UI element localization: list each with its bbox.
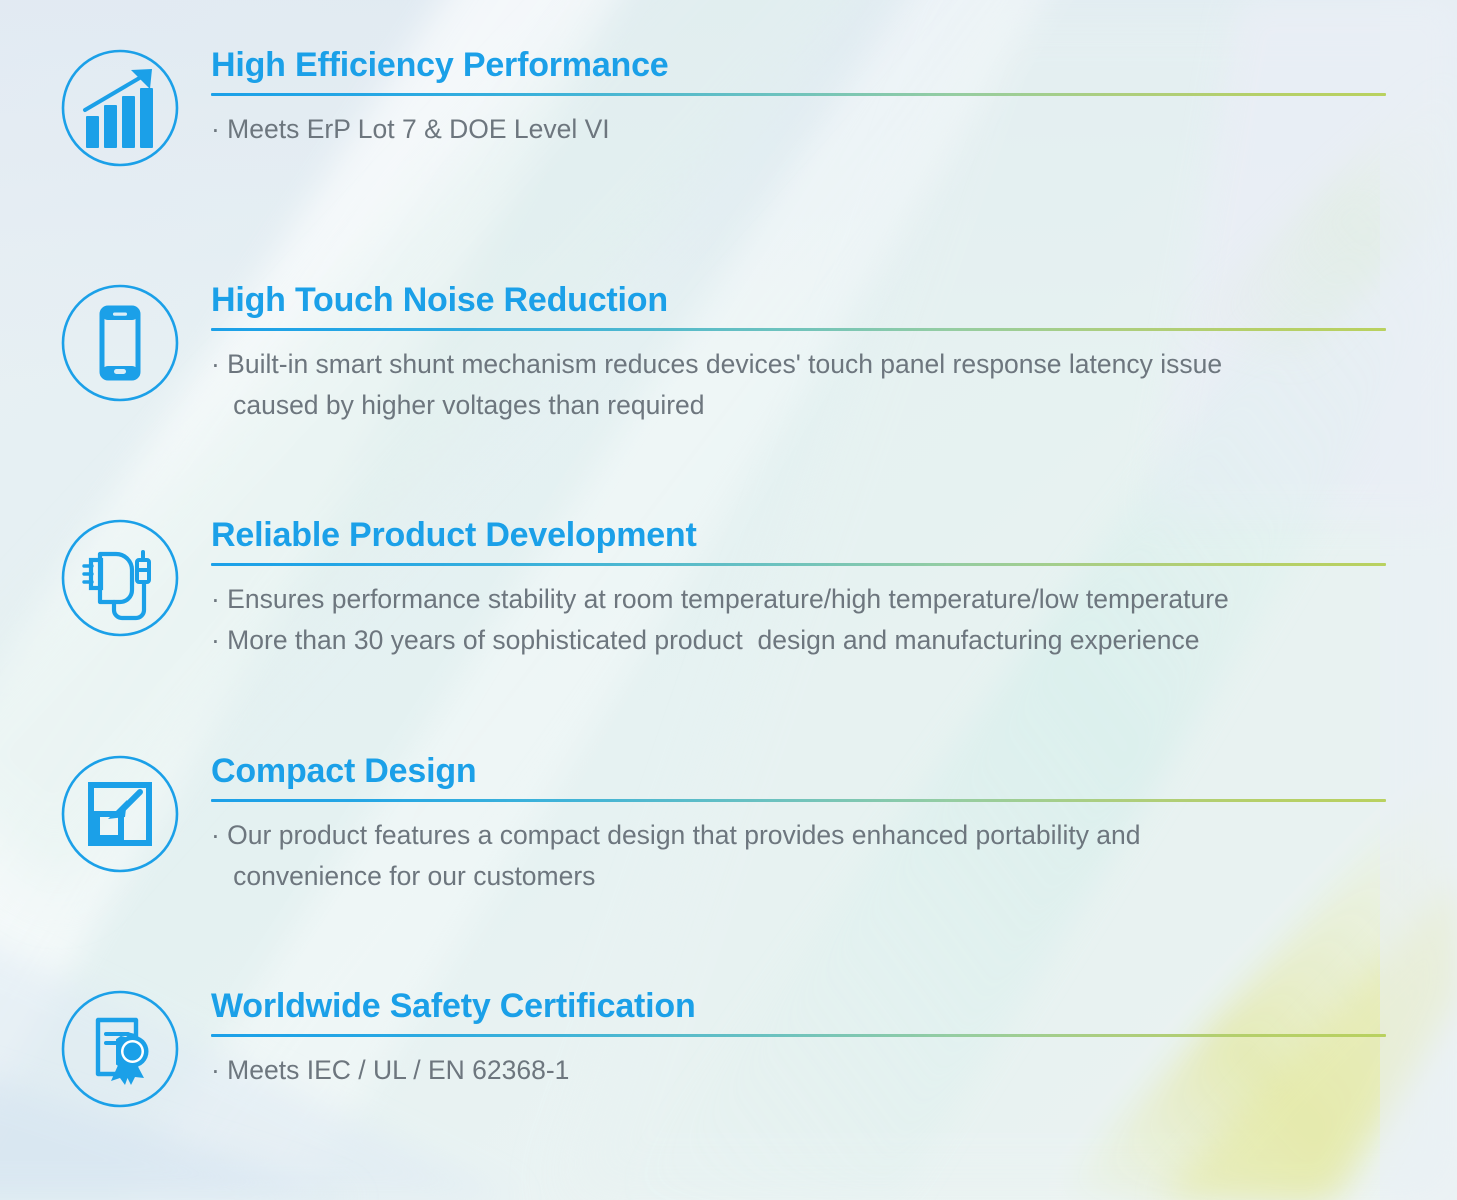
feature-divider — [211, 799, 1386, 802]
feature-title: Worldwide Safety Certification — [211, 987, 1386, 1025]
feature-divider — [211, 328, 1386, 331]
feature-title: High Efficiency Performance — [211, 46, 1386, 84]
compact-resize-icon — [58, 752, 182, 876]
feature-divider — [211, 563, 1386, 566]
feature-bullets: · Ensures performance stability at room … — [211, 580, 1386, 659]
power-adapter-icon — [58, 516, 182, 640]
feature-bullet: · Our product features a compact design … — [211, 816, 1386, 854]
feature-bullet: · Built-in smart shunt mechanism reduces… — [211, 345, 1386, 383]
feature-bullet: convenience for our customers — [211, 857, 1386, 895]
certificate-icon — [58, 987, 182, 1111]
feature-bullets: · Our product features a compact design … — [211, 816, 1386, 895]
feature-divider — [211, 93, 1386, 96]
smartphone-icon — [58, 281, 182, 405]
feature-bullets: · Meets IEC / UL / EN 62368-1 — [211, 1051, 1386, 1089]
feature-title: Compact Design — [211, 752, 1386, 790]
feature-divider — [211, 1034, 1386, 1037]
feature-bullet: · More than 30 years of sophisticated pr… — [211, 621, 1386, 659]
feature-bullets: · Meets ErP Lot 7 & DOE Level VI — [211, 110, 1386, 148]
feature-bullet: · Meets IEC / UL / EN 62368-1 — [211, 1051, 1386, 1089]
growth-chart-icon — [58, 46, 182, 170]
feature-bullets: · Built-in smart shunt mechanism reduces… — [211, 345, 1386, 424]
feature-title: High Touch Noise Reduction — [211, 281, 1386, 319]
feature-bullet: · Ensures performance stability at room … — [211, 580, 1386, 618]
feature-bullet: caused by higher voltages than required — [211, 386, 1386, 424]
feature-bullet: · Meets ErP Lot 7 & DOE Level VI — [211, 110, 1386, 148]
feature-title: Reliable Product Development — [211, 516, 1386, 554]
